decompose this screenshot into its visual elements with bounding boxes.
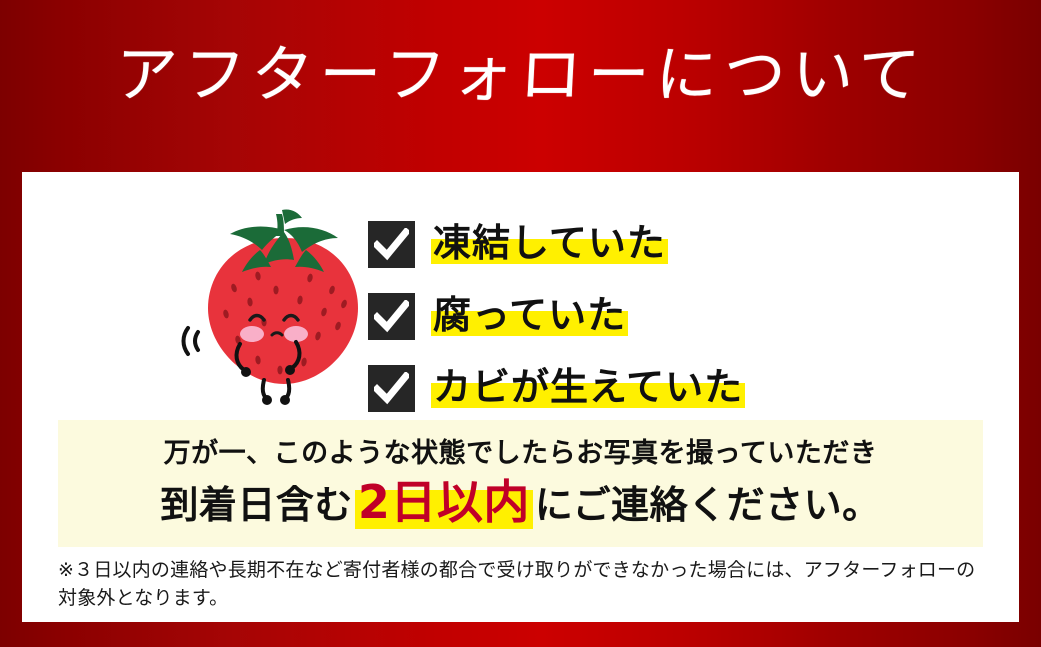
contact-notice-box: 万が一、このような状態でしたらお写真を撮っていただき 到着日含む 2日以内 にご… xyxy=(58,420,983,547)
page-title: アフターフォローについて xyxy=(0,44,1041,106)
deadline-emphasis: 2日以内 xyxy=(355,476,533,529)
checkbox-checked-icon[interactable] xyxy=(368,293,415,340)
banner-header: アフターフォローについて xyxy=(0,0,1041,172)
checkbox-checked-icon[interactable] xyxy=(368,365,415,412)
checklist-item-frozen[interactable]: 凍結していた xyxy=(368,208,968,280)
after-follow-banner: アフターフォローについて xyxy=(0,0,1041,647)
notice-suffix-text: にご連絡ください。 xyxy=(535,484,881,528)
notice-prefix-text: 到着日含む xyxy=(160,484,353,528)
checklist-item-rotten[interactable]: 腐っていた xyxy=(368,280,968,352)
notice-primary-text: 万が一、このような状態でしたらお写真を撮っていただき xyxy=(164,438,878,470)
checklist-item-label: 凍結していた xyxy=(431,224,668,264)
footnote-text: ※３日以内の連絡や長期不在など寄付者様の都合で受け取りができなかった場合には、ア… xyxy=(58,557,993,612)
condition-checklist: 凍結していた 腐っていた カビが生えていた xyxy=(368,208,968,424)
checklist-item-label: 腐っていた xyxy=(431,296,628,336)
notice-deadline-line: 到着日含む 2日以内 にご連絡ください。 xyxy=(160,476,880,529)
strawberry-mascot-icon xyxy=(172,192,392,412)
content-card: 凍結していた 腐っていた カビが生えていた xyxy=(22,172,1019,622)
checklist-item-label: カビが生えていた xyxy=(431,368,745,408)
checkbox-checked-icon[interactable] xyxy=(368,221,415,268)
checklist-item-mold[interactable]: カビが生えていた xyxy=(368,352,968,424)
